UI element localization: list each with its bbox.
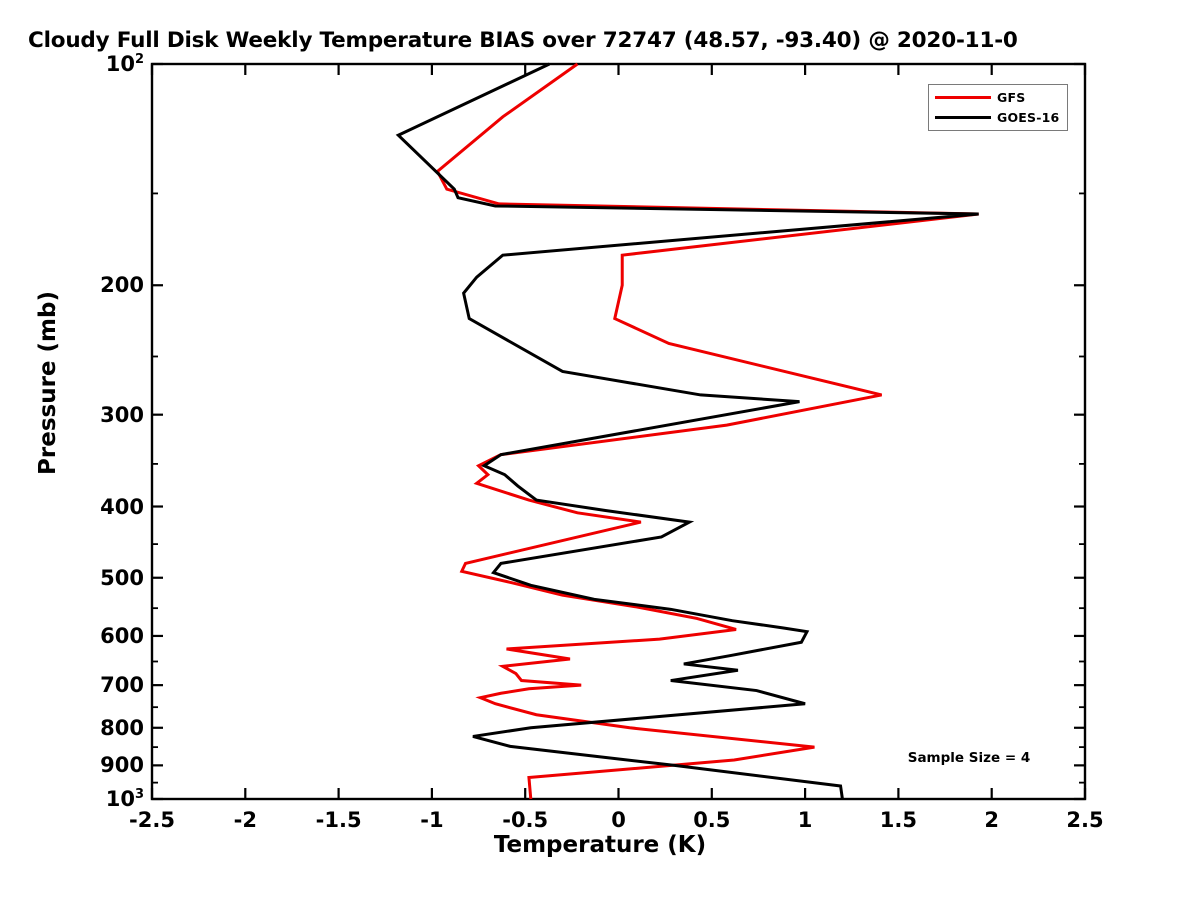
y-tick-label: 900	[100, 753, 144, 777]
y-tick-label: 500	[100, 566, 144, 590]
x-tick-label: -1	[420, 808, 443, 832]
y-tick-label: 103	[106, 787, 144, 811]
legend-color-swatch	[935, 116, 991, 119]
tick-marks	[152, 64, 1085, 799]
y-tick-label: 300	[100, 403, 144, 427]
y-tick-label: 400	[100, 495, 144, 519]
chart-legend[interactable]: GFSGOES-16	[928, 84, 1068, 131]
x-tick-label: 2.5	[1066, 808, 1103, 832]
x-tick-label: -1.5	[316, 808, 362, 832]
y-axis-label: Pressure (mb)	[35, 273, 61, 493]
x-tick-label: -2.5	[129, 808, 175, 832]
x-tick-label: 0.5	[693, 808, 730, 832]
sample-size-annotation: Sample Size = 4	[908, 750, 1031, 766]
legend-item-goes-16[interactable]: GOES-16	[935, 110, 1059, 125]
x-axis-label: Temperature (K)	[0, 832, 1200, 858]
legend-item-gfs[interactable]: GFS	[935, 90, 1059, 105]
series-lines	[398, 64, 978, 799]
axes-frame	[152, 64, 1085, 799]
y-tick-label: 800	[100, 716, 144, 740]
series-line-gfs	[438, 64, 979, 799]
chart-figure: Cloudy Full Disk Weekly Temperature BIAS…	[0, 0, 1200, 900]
y-tick-label: 700	[100, 673, 144, 697]
y-tick-label: 600	[100, 624, 144, 648]
x-tick-label: 2	[984, 808, 999, 832]
x-tick-label: -0.5	[502, 808, 548, 832]
x-tick-label: -2	[234, 808, 257, 832]
x-tick-label: 1.5	[880, 808, 917, 832]
y-tick-label: 102	[106, 52, 144, 76]
legend-label: GFS	[997, 90, 1025, 105]
x-tick-label: 0	[611, 808, 626, 832]
legend-label: GOES-16	[997, 110, 1059, 125]
legend-color-swatch	[935, 96, 991, 99]
x-tick-label: 1	[798, 808, 813, 832]
y-tick-label: 200	[100, 273, 144, 297]
